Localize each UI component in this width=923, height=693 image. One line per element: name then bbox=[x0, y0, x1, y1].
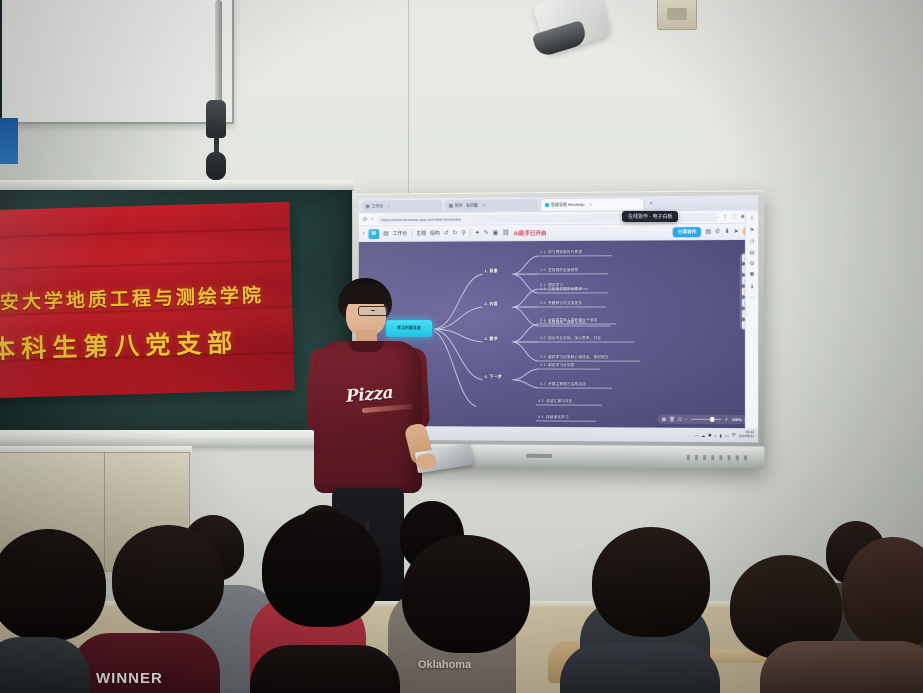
chalk-ledge bbox=[0, 430, 352, 446]
presenter-fringe bbox=[340, 286, 390, 304]
glasses-icon bbox=[358, 306, 388, 316]
shield-icon[interactable]: ⛊ bbox=[750, 272, 754, 279]
system-tray[interactable]: ︿ ☁ ⛊ ♪ ▮ ▭ 中 15:42 2024/5/11 bbox=[694, 431, 754, 439]
zoom-slider[interactable] bbox=[691, 418, 722, 420]
ime-icon[interactable]: 中 bbox=[732, 432, 736, 438]
audience-shirt-text: Oklahoma bbox=[418, 659, 471, 671]
trash-icon[interactable]: 🗑 bbox=[669, 416, 675, 422]
shield-icon[interactable]: ⛊ bbox=[708, 432, 711, 437]
forward-arrow-icon[interactable]: › bbox=[371, 216, 373, 222]
redo-icon[interactable]: ↻ bbox=[453, 230, 458, 237]
mindmap-leaf-3-3[interactable]: 3.3. 做好学习记录和心得体会，按时提交 bbox=[540, 355, 609, 360]
share-button[interactable]: 分享协作 bbox=[673, 227, 701, 237]
brand-logo bbox=[526, 454, 552, 458]
up-arrow-icon[interactable]: ︿ bbox=[694, 432, 698, 438]
image-icon[interactable]: ▣ bbox=[493, 229, 499, 236]
mindmap-leaf-2-2[interactable]: 2.2. 专题研讨与交流发言 bbox=[540, 301, 582, 306]
mindmap-leaf-4-3[interactable]: 4.3. 总结汇报与评议 bbox=[538, 399, 573, 404]
present-icon[interactable]: ▤ bbox=[705, 228, 711, 235]
menu-item-0[interactable]: 主题 bbox=[416, 230, 426, 237]
mindmap-leaf-1-1[interactable]: 1.1. 学习贯彻新时代思想 bbox=[540, 250, 582, 255]
tab-favicon bbox=[545, 203, 549, 207]
call-icon[interactable]: ✆ bbox=[715, 228, 720, 235]
star-icon[interactable]: ☆ bbox=[723, 214, 728, 220]
screen-status-badge: 在线协作 · 电子白板 bbox=[622, 211, 678, 222]
plus-icon[interactable]: ＋ bbox=[724, 416, 729, 422]
download-icon[interactable]: ⬇ bbox=[724, 228, 729, 235]
app-back-button[interactable]: ‹ bbox=[363, 231, 365, 237]
bookmark-icon[interactable]: ⚑ bbox=[750, 228, 755, 234]
presenter-shirt bbox=[314, 341, 422, 493]
audience-head bbox=[592, 527, 710, 637]
audience-torso bbox=[760, 641, 923, 693]
bezel-controls[interactable] bbox=[687, 455, 750, 461]
tab-close-icon[interactable]: ✕ bbox=[482, 203, 485, 208]
audience-head bbox=[112, 525, 224, 631]
tab-label: 知乎 - 有问题 bbox=[455, 202, 478, 208]
more-icon[interactable]: ⋯ bbox=[749, 296, 755, 302]
audience-rows: Oklahoma WINNER bbox=[0, 483, 923, 693]
settings-icon[interactable]: ⚙ bbox=[750, 261, 755, 267]
battery-icon[interactable]: ▭ bbox=[725, 433, 729, 438]
mindmap-leaf-4-4[interactable]: 4.4. 持续深化学习 bbox=[538, 415, 569, 420]
puzzle-icon[interactable]: ⬚ bbox=[732, 214, 737, 220]
audience-head bbox=[402, 535, 530, 653]
tab-favicon bbox=[449, 203, 453, 207]
mindmap-leaf-3-1[interactable]: 3.1. 全体党员和入党积极分子参加 bbox=[540, 318, 597, 323]
red-banner: 长安大学地质工程与测绘学院 本科生第八党支部 bbox=[0, 202, 295, 398]
front-shirt-text: WINNER bbox=[96, 670, 163, 687]
mindmap-branch-2[interactable]: 2. 内容 bbox=[484, 301, 497, 307]
note-icon[interactable]: ✦ bbox=[475, 229, 480, 236]
collection-icon[interactable]: ▤ bbox=[749, 250, 754, 256]
menu-item-1[interactable]: 结构 bbox=[430, 230, 440, 237]
reload-icon[interactable]: ⟳ bbox=[363, 216, 368, 223]
mindmap-leaf-1-2[interactable]: 1.2. 坚持党的全面领导 bbox=[540, 268, 578, 273]
tab-label: 思维导图 Mindmap bbox=[551, 201, 585, 207]
tab-favicon bbox=[366, 204, 370, 208]
tab-close-icon[interactable]: ✕ bbox=[387, 203, 390, 208]
classroom-scene: 长安大学地质工程与测绘学院 本科生第八党支部 工作台 ✕ 知乎 - 有问题 ✕ bbox=[0, 0, 923, 693]
search-icon[interactable]: ⌕ bbox=[750, 216, 753, 223]
microphone-head bbox=[206, 152, 226, 180]
grid-icon[interactable]: ▤ bbox=[383, 230, 389, 237]
browser-side-rail[interactable]: ⌕ ⚑ ◷ ▤ ⚙ ⛊ ⬇ ⋯ bbox=[745, 211, 758, 429]
mindmap-leaf-3-2[interactable]: 3.2. 结合专业实际，深入思考、讨论 bbox=[540, 336, 601, 341]
mindmap-branch-4[interactable]: 4. 下一步 bbox=[484, 374, 501, 380]
minus-icon[interactable]: − bbox=[685, 417, 688, 422]
link-icon[interactable]: ⛓ bbox=[502, 229, 510, 236]
new-tab-button[interactable]: + bbox=[646, 201, 656, 207]
hanging-microphone bbox=[206, 100, 226, 138]
presenter-collar bbox=[348, 341, 384, 352]
mindmap-leaf-4-2[interactable]: 4.2. 开展主题党日实践活动 bbox=[540, 382, 586, 387]
mindmap-branch-1[interactable]: 1. 背景 bbox=[484, 268, 497, 274]
audience-torso bbox=[560, 643, 720, 693]
tab-close-icon[interactable]: ✕ bbox=[589, 202, 592, 207]
projector-mount-arm bbox=[215, 0, 222, 116]
wall-junction-box bbox=[657, 0, 697, 30]
zoom-slider-handle[interactable] bbox=[710, 417, 714, 422]
undo-icon[interactable]: ↺ bbox=[444, 230, 449, 237]
ai-alert-text: AI助手已开启 bbox=[514, 229, 547, 237]
download-icon[interactable]: ⬇ bbox=[750, 284, 755, 290]
zoom-level: 100% bbox=[732, 417, 742, 421]
browser-tab-2[interactable]: 思维导图 Mindmap ✕ bbox=[541, 198, 643, 211]
cloud-icon[interactable]: ☁ bbox=[701, 432, 705, 437]
mindmap-leaf-4-1[interactable]: 4.1. 制定学习计划表 bbox=[540, 363, 575, 368]
audience-head bbox=[0, 529, 106, 641]
browser-tab-0[interactable]: 工作台 ✕ bbox=[362, 199, 442, 212]
send-icon[interactable]: ➤ bbox=[734, 228, 739, 235]
pen-icon[interactable]: ✎ bbox=[484, 229, 489, 236]
network-icon[interactable]: ▮ bbox=[720, 433, 722, 438]
audience-torso bbox=[250, 645, 400, 693]
grid-icon[interactable]: ▦ bbox=[662, 416, 666, 422]
taskbar-clock[interactable]: 15:42 2024/5/11 bbox=[739, 432, 754, 439]
doc-title[interactable]: 工作台 bbox=[393, 230, 408, 237]
volume-icon[interactable]: ♪ bbox=[714, 433, 716, 438]
format-painter-icon[interactable]: ⚲ bbox=[461, 230, 465, 237]
tab-label: 工作台 bbox=[371, 203, 383, 209]
mindmap-branch-3[interactable]: 3. 要求 bbox=[484, 336, 497, 342]
url-text: https://www.mindmap-app.cn/editor/doc/sh… bbox=[381, 216, 461, 222]
browser-tab-1[interactable]: 知乎 - 有问题 ✕ bbox=[445, 199, 538, 212]
projector-mount-panel bbox=[0, 0, 234, 124]
fit-screen-icon[interactable]: ⊡ bbox=[678, 416, 682, 422]
zoom-control-bar[interactable]: ▦ 🗑 ⊡ − ＋ 100% ⛶ bbox=[658, 415, 752, 425]
app-logo-icon: M bbox=[369, 229, 380, 239]
history-icon[interactable]: ◷ bbox=[750, 239, 755, 245]
mindmap-leaf-2-1[interactable]: 2.1. 理论学习 bbox=[540, 283, 563, 288]
wall-blue-panel bbox=[0, 118, 18, 164]
audience-head bbox=[262, 511, 382, 627]
clock-date: 2024/5/11 bbox=[739, 434, 754, 438]
